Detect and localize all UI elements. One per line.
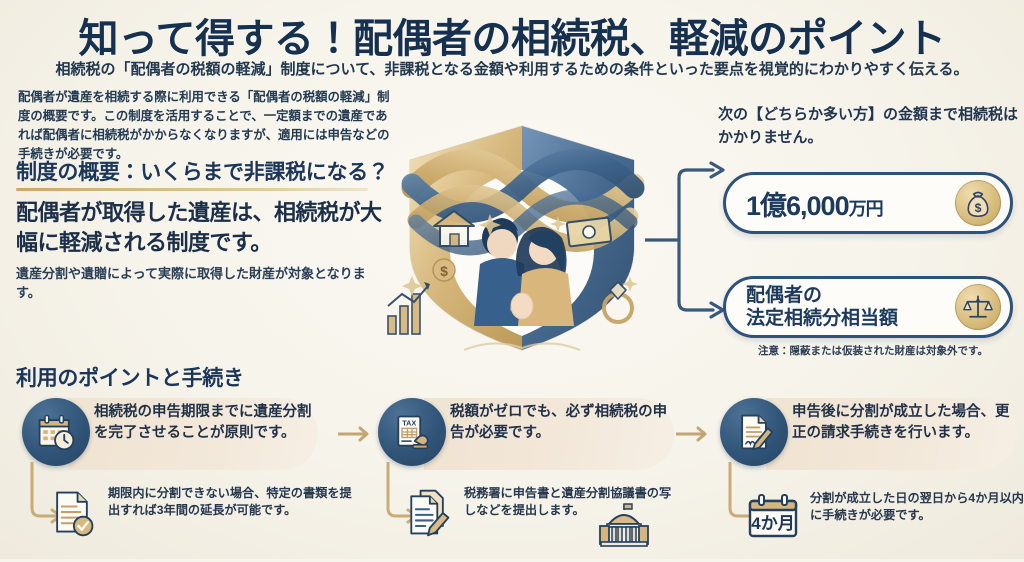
claim-note-text: 遺産分割や遺贈によって実際に取得した財産が対象となります。 — [16, 265, 386, 303]
step-3-subnote-text: 分割が成立した日の翌日から4か月以内に手続きが必要です。 — [810, 490, 1024, 525]
step-2-text: 税額がゼロでも、必ず相続税の申告が必要です。 — [450, 402, 675, 444]
calendar-4months-icon: 4か月 — [744, 492, 802, 542]
scales-icon — [955, 284, 1001, 330]
page-subtitle: 相続税の「配偶者の税額の軽減」制度について、非課税となる金額や利用するための条件… — [0, 58, 1024, 79]
step-3-subnote: 4か月 分割が成立した日の翌日から4か月以内に手続きが必要です。 — [744, 492, 1024, 562]
branch-connector — [645, 160, 737, 320]
banknote-icon — [567, 218, 612, 247]
section-heading-overview: 制度の概要：いくらまで非課税になる？ — [16, 156, 376, 186]
bar-chart-icon — [388, 282, 430, 334]
step-1-subnote: 期限内に分割できない場合、特定の書類を提出すれば3年間の延長が可能です。 — [46, 487, 346, 557]
document-check-icon — [46, 487, 102, 543]
step-2-subnote: 税務署に申告書と遺産分割協議書の写しなどを提出します。 — [402, 487, 702, 557]
svg-text:$: $ — [975, 201, 982, 215]
tax-stamp-icon: TAX — [378, 398, 446, 466]
amount-pill-1-text: 1億6,000万円 — [726, 184, 955, 223]
step-arrow-1 — [338, 424, 378, 444]
main-claim-text: 配偶者が取得した遺産は、相続税が大幅に軽減される制度です。 — [16, 198, 396, 259]
money-bag-icon: $ — [955, 180, 1001, 226]
calendar-badge-label: 4か月 — [751, 514, 794, 533]
step-arrow-2 — [676, 424, 716, 444]
amount-value: 1億6,000万円 — [746, 191, 883, 221]
section-divider — [16, 188, 368, 191]
amount-unit: 万円 — [849, 199, 883, 219]
svg-text:$: $ — [440, 263, 448, 279]
signed-document-icon — [720, 398, 788, 466]
svg-text:TAX: TAX — [402, 419, 416, 428]
step-1-subnote-text: 期限内に分割できない場合、特定の書類を提出すれば3年間の延長が可能です。 — [108, 485, 358, 520]
step-card-1[interactable]: 相続税の申告期限までに遺産分割を完了させることが原則です。 — [22, 398, 322, 470]
exclusion-note: 注意：隠蔽または仮装された財産は対象外です。 — [723, 343, 1023, 358]
intro-paragraph: 配偶者が遺産を相続する際に利用できる「配偶者の税額の軽減」制度の概要です。この制… — [18, 88, 398, 163]
pill-line-2: 法定相続分相当額 — [746, 307, 955, 330]
infographic-canvas: 知って得する！配偶者の相続税、軽減のポイント 相続税の「配偶者の税額の軽減」制度… — [0, 0, 1024, 559]
amount-pill-2-text: 配偶者の 法定相続分相当額 — [726, 284, 955, 330]
document-pencil-icon — [402, 487, 458, 543]
section-heading-steps: 利用のポイントと手続き — [16, 362, 244, 392]
government-building-icon — [595, 502, 653, 552]
step-1-text: 相続税の申告期限までに遺産分割を完了させることが原則です。 — [94, 402, 319, 444]
calendar-clock-icon — [22, 398, 90, 466]
step-card-2[interactable]: TAX 税額がゼロでも、必ず相続税の申告が必要です。 — [378, 398, 678, 470]
shield-couple-illustration: $ — [372, 98, 672, 366]
amount-pill-1[interactable]: 1億6,000万円 $ — [723, 172, 1013, 234]
dollar-coin-icon: $ — [433, 259, 455, 281]
pill-line-1: 配偶者の — [746, 284, 955, 307]
right-lead-text: 次の【どちらか多い方】の金額まで相続税はかかりません。 — [718, 104, 1018, 149]
step-3-text: 申告後に分割が成立した場合、更正の請求手続きを行います。 — [792, 402, 1017, 444]
step-card-3[interactable]: 申告後に分割が成立した場合、更正の請求手続きを行います。 — [720, 398, 1020, 470]
page-title: 知って得する！配偶者の相続税、軽減のポイント — [0, 6, 1024, 64]
amount-pill-2[interactable]: 配偶者の 法定相続分相当額 — [723, 276, 1013, 338]
